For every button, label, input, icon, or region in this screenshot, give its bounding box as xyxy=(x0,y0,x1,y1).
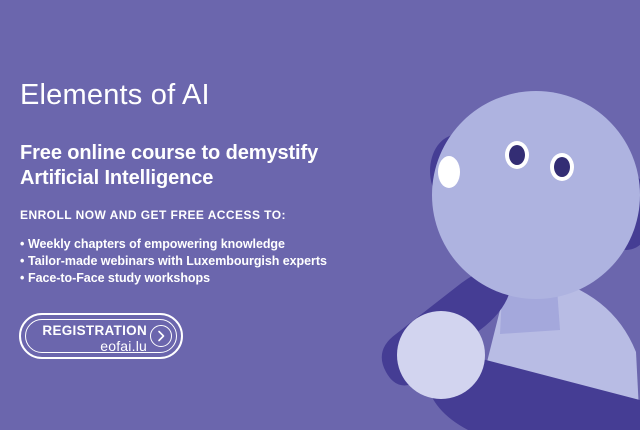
robot-eye-left xyxy=(505,141,529,169)
headline-line-1: Free online course to demystify xyxy=(20,142,318,164)
elements-of-ai-banner: Elements of AI Free online course to dem… xyxy=(0,0,640,430)
list-item-label: Tailor-made webinars with Luxembourgish … xyxy=(28,254,327,268)
robot-neck xyxy=(500,274,560,334)
list-item: • Weekly chapters of empowering knowledg… xyxy=(20,236,327,253)
robot-eye-right-pupil xyxy=(554,157,570,177)
eyebrow-label: ENROLL NOW AND GET FREE ACCESS TO: xyxy=(20,207,286,223)
bullet-icon: • xyxy=(20,270,24,287)
registration-button-label: REGISTRATION xyxy=(33,323,147,338)
list-item: • Tailor-made webinars with Luxembourgis… xyxy=(20,253,327,270)
robot-forearm xyxy=(426,348,640,430)
robot-left-ear xyxy=(430,135,482,207)
robot-eye-right xyxy=(550,153,574,181)
registration-button-text: REGISTRATION eofai.lu xyxy=(33,323,147,354)
bullet-icon: • xyxy=(20,253,24,270)
robot-eye-left-pupil xyxy=(509,145,525,165)
list-item-label: Weekly chapters of empowering knowledge xyxy=(28,237,285,251)
headline: Free online course to demystify Artifici… xyxy=(20,141,380,191)
benefits-list: • Weekly chapters of empowering knowledg… xyxy=(20,236,327,287)
bullet-icon: • xyxy=(20,236,24,253)
robot-arm xyxy=(382,262,512,385)
headline-line-2: Artificial Intelligence xyxy=(20,166,380,191)
robot-hand xyxy=(397,311,485,399)
robot-head xyxy=(432,91,640,299)
robot-left-ear-inner xyxy=(438,156,460,188)
list-item: • Face-to-Face study workshops xyxy=(20,270,327,287)
registration-button-url: eofai.lu xyxy=(33,338,147,354)
robot-right-ear xyxy=(598,174,640,250)
registration-button[interactable]: REGISTRATION eofai.lu xyxy=(19,313,183,359)
page-title: Elements of AI xyxy=(20,78,210,112)
robot-torso xyxy=(470,276,640,430)
banner-copy: Elements of AI Free online course to dem… xyxy=(0,0,400,430)
list-item-label: Face-to-Face study workshops xyxy=(28,271,210,285)
chevron-right-icon[interactable] xyxy=(150,325,172,347)
